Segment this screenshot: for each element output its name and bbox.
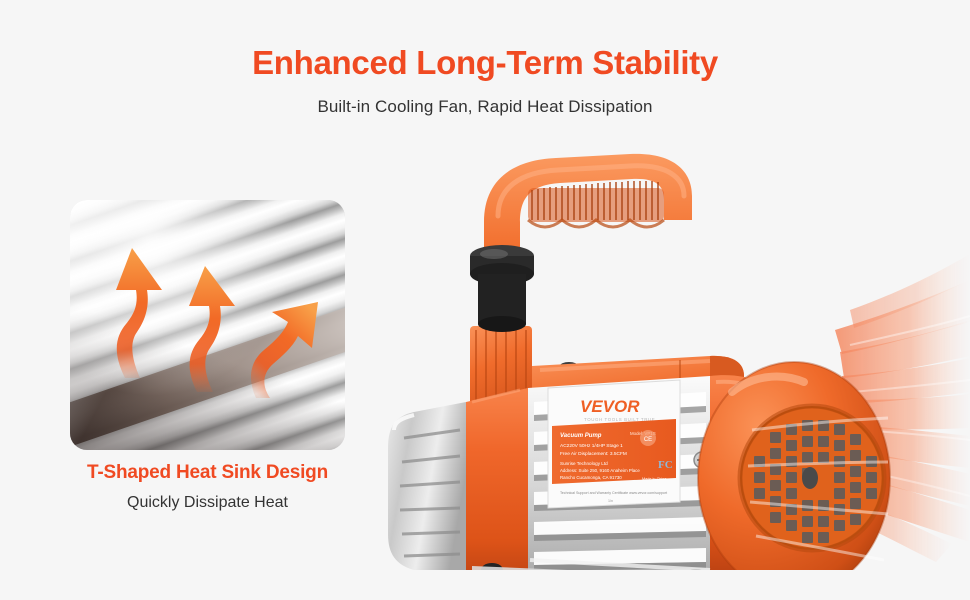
fan-shaft-hole — [802, 467, 818, 489]
pump-end-cap — [388, 402, 466, 570]
heat-arrow-icon-3 — [238, 288, 324, 400]
heat-sink-inset-image — [70, 200, 345, 450]
handle-grip-ribs — [528, 181, 664, 227]
heat-arrow-icon-2 — [167, 258, 243, 394]
label-company: Sunrise Technology Ltd — [560, 461, 608, 466]
svg-text:1/n: 1/n — [608, 499, 613, 503]
label-footer: Technical Support and Warranty Certifica… — [560, 491, 667, 495]
label-origin: Made in China — [642, 477, 667, 481]
label-address-1: Address: Suite 250, 9160 Anaheim Place — [560, 468, 640, 473]
inset-caption-title: T-Shaped Heat Sink Design — [70, 462, 345, 484]
promo-banner: Enhanced Long-Term Stability Built-in Co… — [0, 0, 970, 600]
page-subtitle: Built-in Cooling Fan, Rapid Heat Dissipa… — [0, 97, 970, 117]
pump-mid-bracket — [466, 388, 528, 570]
label-spec-power: AC220V 50Hz 1/4HP Stage 1 — [560, 443, 623, 449]
label-brand: VEVOR — [580, 397, 640, 416]
label-address-2: Rancho Cucamonga, CA 91730 — [560, 475, 622, 480]
cert-fc-icon: FC — [658, 459, 673, 471]
intake-port-cap — [470, 245, 534, 332]
label-title: Vacuum Pump — [560, 433, 602, 439]
inset-caption-subtitle: Quickly Dissipate Heat — [70, 494, 345, 512]
page-title: Enhanced Long-Term Stability — [0, 44, 970, 82]
heat-arrow-icon-1 — [92, 240, 170, 380]
product-image-vacuum-pump: I O — [380, 130, 970, 570]
svg-text:CE: CE — [644, 437, 652, 443]
label-spec-flow: Free Air Displacement: 3.5CFM — [560, 451, 627, 457]
spec-label: VEVOR TOUGH TOOLS BUILT TRUE Vacuum Pump… — [548, 380, 680, 508]
